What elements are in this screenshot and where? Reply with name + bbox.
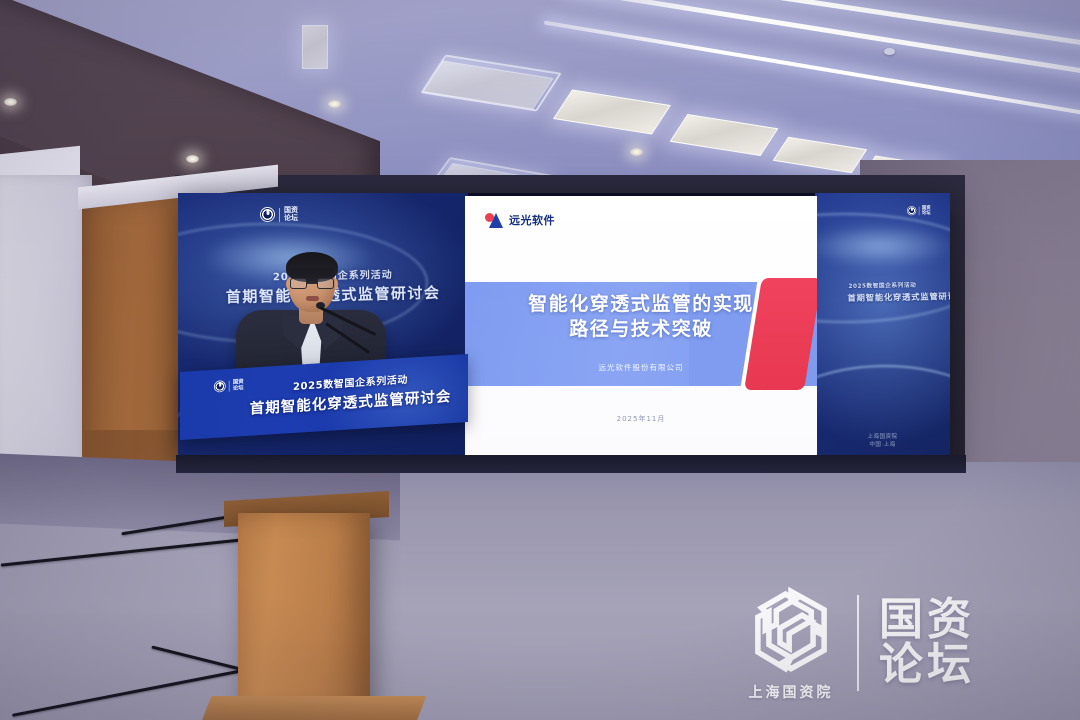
led-right-event-line1: 2025数智国企系列活动 [847, 280, 917, 290]
decor-glow [815, 221, 950, 271]
glasses-bridge [307, 282, 317, 284]
podium: 国资 论坛 2025数智国企系列活动 首期智能化穿透式监管研讨会 [180, 363, 468, 720]
ceiling-downlight [4, 98, 17, 106]
watermark-logo-lockup: 上海国资院 国资 论坛 [745, 578, 1065, 708]
logo-divider [229, 380, 230, 391]
ceiling-downlight [328, 100, 341, 108]
glasses-lens-right [317, 278, 334, 289]
gz-emblem-icon [907, 206, 916, 215]
podium-sign-text: 2025数智国企系列活动 首期智能化穿透式监管研讨会 [238, 367, 463, 419]
yuanguang-dot-icon [485, 213, 494, 222]
ceiling-panel-light [773, 137, 868, 173]
podium-base-plinth [201, 696, 427, 720]
yuanguang-brand-name: 远光软件 [509, 212, 555, 228]
forum-logo-line2: 论坛 [284, 215, 298, 223]
presentation-slide: 远光软件 智能化穿透式监管的实现 路径与技术突破 远光软件股份有限公司 2025… [465, 196, 817, 462]
forum-logo-text: 国资 论坛 [922, 206, 931, 216]
decor-globe-arc [815, 365, 950, 465]
forum-logo-line2: 论坛 [922, 211, 931, 216]
slide-title-line1: 智能化穿透式监管的实现 [528, 293, 754, 315]
speaker-mouth [306, 296, 319, 301]
led-right-event-line2: 首期智能化穿透式监管研讨会 [847, 290, 917, 304]
forum-logo-led-left: 国资 论坛 [260, 207, 298, 222]
logo-divider [919, 206, 920, 215]
ceiling-downlight [630, 148, 643, 156]
conference-photo: 国资 论坛 2025数智国企系列活动 首期智能化穿透式监管研讨会 国资 论坛 [0, 0, 1080, 720]
watermark-forum-line1: 国资 [879, 598, 975, 643]
watermark-institute-block: 上海国资院 [745, 584, 837, 702]
shanghai-sasac-institute-hexagon-logo [745, 584, 837, 676]
forum-logo-led-right: 国资 论坛 [907, 206, 931, 216]
led-right-footer-line2: 中国·上海 [815, 441, 950, 449]
led-right-footer-line1: 上海国资院 [815, 433, 950, 441]
slide-title-line2: 路径与技术突破 [465, 317, 817, 342]
ceiling-panel-light [553, 89, 671, 134]
podium-sign: 国资 论坛 2025数智国企系列活动 首期智能化穿透式监管研讨会 [180, 354, 468, 440]
slide-presenter-org: 远光软件股份有限公司 [465, 362, 817, 373]
podium-column [238, 513, 370, 718]
ceiling-panel-light [670, 114, 779, 156]
ceiling-downlight [186, 155, 199, 163]
watermark-forum-line2: 论坛 [879, 643, 975, 688]
yuanguang-logo: 远光软件 [485, 211, 555, 228]
logo-divider [279, 208, 280, 222]
smoke-detector-icon [884, 48, 895, 55]
slide-date: 2025年11月 [465, 414, 817, 424]
gz-emblem-icon [214, 380, 226, 392]
forum-logo-text: 国资 论坛 [284, 207, 298, 222]
ceiling-panel-light [302, 25, 328, 69]
watermark-divider [857, 595, 859, 691]
led-right-footer: 上海国资院 中国·上海 [815, 433, 950, 450]
speaker-glasses-icon [290, 278, 335, 289]
led-right-event-title: 2025数智国企系列活动 首期智能化穿透式监管研讨会 [847, 280, 918, 303]
glasses-lens-left [290, 278, 307, 289]
ceiling-air-vent [420, 54, 562, 111]
gz-emblem-icon [260, 207, 275, 222]
led-wall-right-panel: 国资 论坛 2025数智国企系列活动 首期智能化穿透式监管研讨会 上海国资院 中… [815, 193, 950, 465]
yuanguang-mark-icon [485, 211, 504, 228]
watermark-caption: 上海国资院 [749, 682, 834, 702]
slide-title: 智能化穿透式监管的实现 路径与技术突破 [465, 292, 817, 342]
watermark-forum-name: 国资 论坛 [879, 598, 975, 688]
